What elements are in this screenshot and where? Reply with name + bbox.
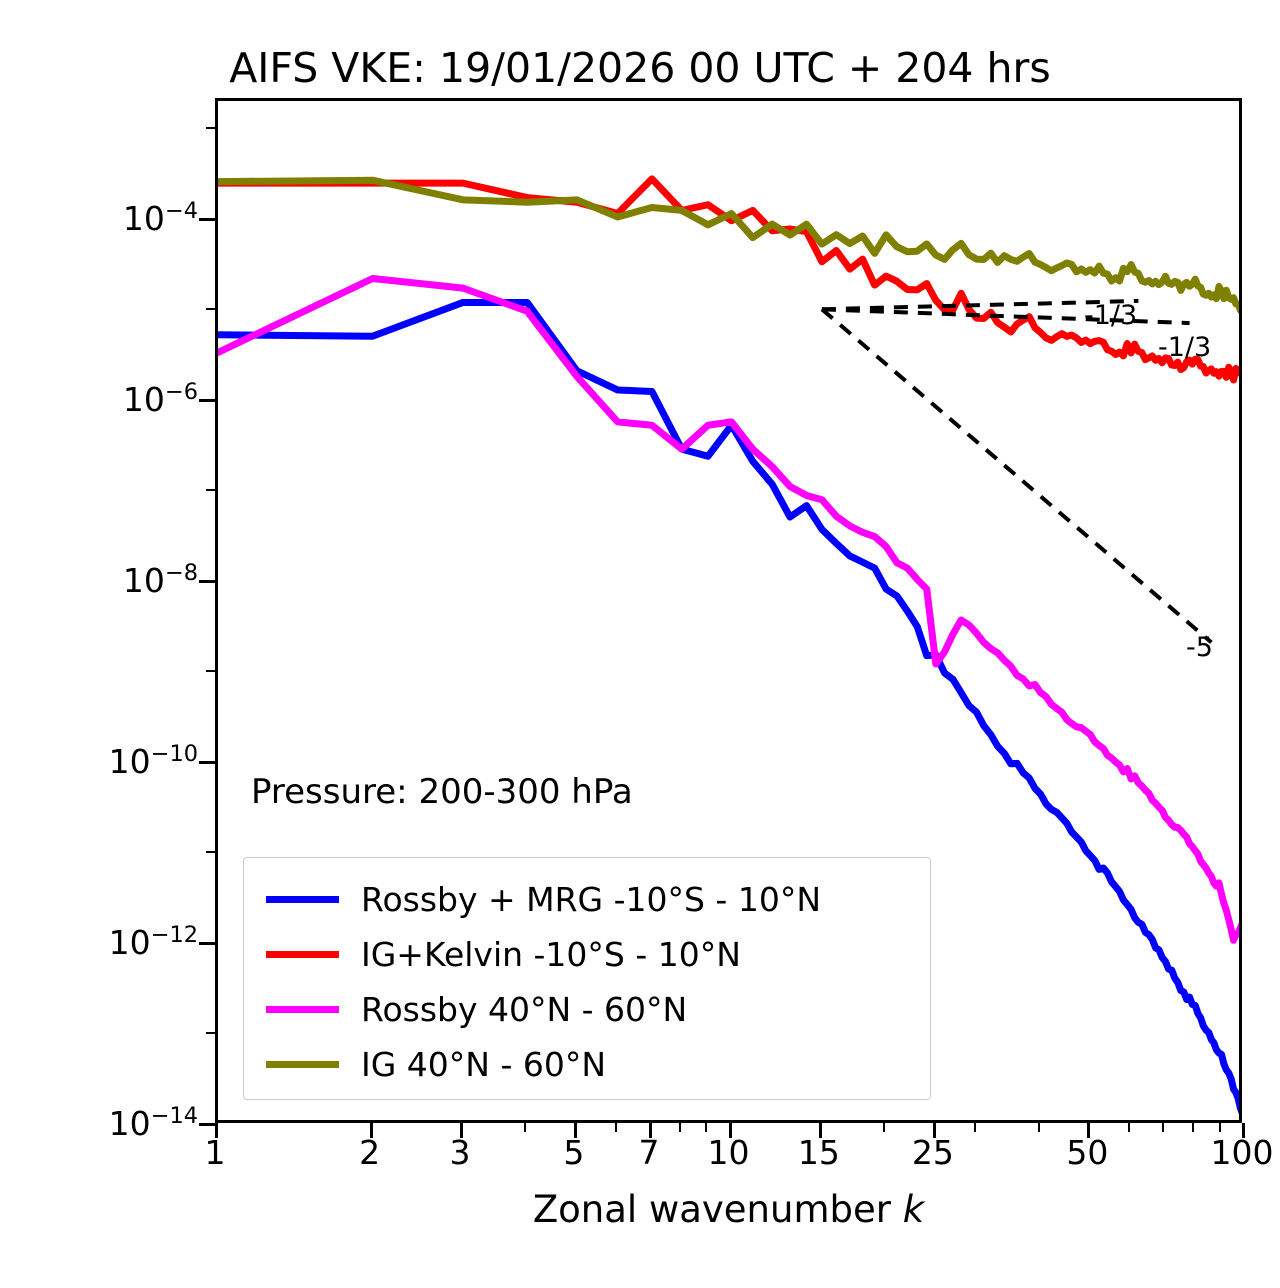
legend-item[interactable]: IG 40°N - 60°N: [244, 1037, 930, 1092]
legend-color-swatch: [266, 951, 339, 958]
x-axis-tick-label: 100: [1211, 1133, 1274, 1172]
x-axis-tick-label: 10: [708, 1133, 750, 1172]
y-axis-minor-tick: [206, 851, 215, 853]
x-axis-tick-mark: [574, 1123, 577, 1138]
x-axis-tick-mark: [370, 1123, 373, 1138]
y-axis-tick-mark: [199, 1123, 215, 1126]
x-axis-tick-mark: [460, 1123, 463, 1138]
x-axis-minor-tick: [524, 1123, 526, 1132]
x-axis-tick-label: 15: [798, 1133, 840, 1172]
y-axis-tick-mark: [199, 761, 215, 764]
page-title: AIFS VKE: 19/01/2026 00 UTC + 204 hrs: [0, 44, 1280, 92]
x-axis-minor-tick: [974, 1123, 976, 1132]
x-axis-tick-mark: [1242, 1123, 1245, 1138]
legend-item-label: Rossby + MRG -10°S - 10°N: [361, 880, 821, 919]
y-axis-tick-label: 10−6: [123, 379, 198, 419]
series-line: [218, 278, 1242, 940]
x-axis-minor-tick: [615, 1123, 617, 1132]
pressure-annotation: Pressure: 200-300 hPa: [251, 772, 633, 812]
legend-color-swatch: [266, 1006, 339, 1013]
legend-item-label: Rossby 40°N - 60°N: [361, 990, 687, 1029]
figure: AIFS VKE: 19/01/2026 00 UTC + 204 hrs Ve…: [0, 0, 1280, 1288]
x-axis-minor-tick: [1219, 1123, 1221, 1132]
x-axis-tick-label: 3: [450, 1133, 471, 1172]
x-axis-minor-tick: [679, 1123, 681, 1132]
y-axis-tick-mark: [199, 218, 215, 221]
y-axis-minor-tick: [206, 308, 215, 310]
x-axis-minor-tick: [705, 1123, 707, 1132]
y-axis-tick-label: 10−4: [123, 198, 198, 238]
y-axis-minor-tick: [206, 670, 215, 672]
y-axis-minor-tick: [206, 127, 215, 129]
x-axis-tick-mark: [215, 1123, 218, 1138]
legend: Rossby + MRG -10°S - 10°NIG+Kelvin -10°S…: [243, 857, 931, 1100]
legend-item[interactable]: Rossby + MRG -10°S - 10°N: [244, 872, 930, 927]
x-axis-minor-tick: [1162, 1123, 1164, 1132]
x-axis-tick-label: 25: [912, 1133, 954, 1172]
x-axis-tick-label: 5: [563, 1133, 584, 1172]
x-axis-label-symbol: k: [903, 1188, 924, 1231]
slope-annotation-minus-five: -5: [1186, 632, 1213, 663]
y-axis-minor-tick: [206, 1032, 215, 1034]
legend-item-label: IG 40°N - 60°N: [361, 1045, 606, 1084]
legend-item[interactable]: Rossby 40°N - 60°N: [244, 982, 930, 1037]
legend-item-label: IG+Kelvin -10°S - 10°N: [361, 935, 741, 974]
y-axis-tick-mark: [199, 399, 215, 402]
x-axis-tick-mark: [729, 1123, 732, 1138]
y-axis-tick-label: 10−14: [109, 1103, 198, 1143]
y-axis-tick-label: 10−8: [123, 560, 198, 600]
slope-annotation-lower-one-third: -1/3: [1158, 332, 1211, 363]
slope-annotation-upper-one-third: -1/3: [1084, 300, 1137, 331]
legend-color-swatch: [266, 896, 339, 903]
y-axis-tick-label: 10−12: [109, 922, 198, 962]
x-axis-label-prefix: Zonal wavenumber: [533, 1188, 903, 1231]
series-line: [218, 180, 1242, 311]
x-axis-tick-mark: [819, 1123, 822, 1138]
legend-item[interactable]: IG+Kelvin -10°S - 10°N: [244, 927, 930, 982]
x-axis-minor-tick: [883, 1123, 885, 1132]
y-axis-tick-mark: [199, 942, 215, 945]
x-axis-tick-label: 7: [638, 1133, 659, 1172]
x-axis-tick-mark: [649, 1123, 652, 1138]
x-axis-minor-tick: [1038, 1123, 1040, 1132]
legend-color-swatch: [266, 1061, 339, 1068]
x-axis-tick-label: 1: [205, 1133, 226, 1172]
x-axis-label: Zonal wavenumber k: [215, 1188, 1242, 1231]
x-axis-tick-mark: [933, 1123, 936, 1138]
y-axis-minor-tick: [206, 489, 215, 491]
x-axis-tick-label: 2: [359, 1133, 380, 1172]
y-axis-tick-label: 10−10: [109, 741, 198, 781]
y-axis-tick-mark: [199, 580, 215, 583]
x-axis-minor-tick: [1192, 1123, 1194, 1132]
x-axis-minor-tick: [1128, 1123, 1130, 1132]
x-axis-tick-label: 50: [1066, 1133, 1108, 1172]
x-axis-tick-mark: [1087, 1123, 1090, 1138]
